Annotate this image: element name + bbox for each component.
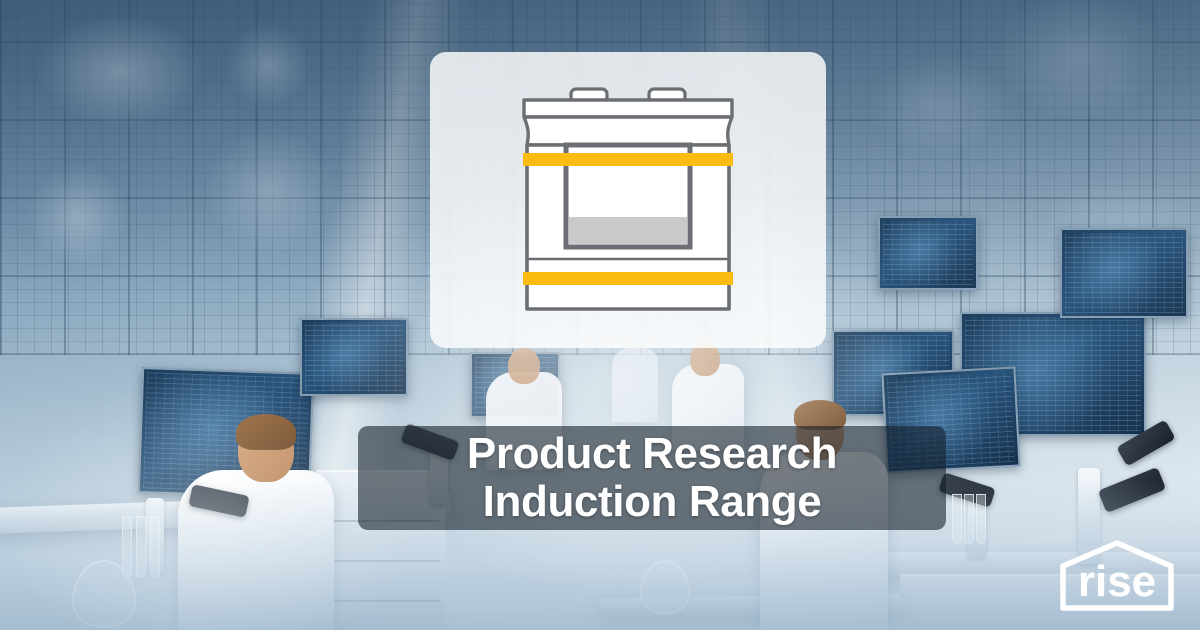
title-band: Product Research Induction Range [358, 426, 946, 530]
background-wall-monitor [300, 318, 408, 396]
page-title-line-2: Induction Range [483, 478, 822, 526]
rise-logo[interactable]: rise [1056, 538, 1178, 612]
induction-range-icon [521, 87, 735, 313]
background-scientist-coat [612, 348, 658, 422]
product-icon-card [430, 52, 826, 348]
rise-logo-house-icon: rise [1056, 538, 1178, 612]
background-wall-monitor [878, 216, 978, 290]
background-scientist-hair [236, 414, 296, 450]
hero-banner: Product Research Induction Range rise [0, 0, 1200, 630]
background-scientist-head [508, 348, 540, 384]
page-title-line-1: Product Research [467, 430, 837, 478]
background-wall-monitor [1060, 228, 1188, 318]
rise-logo-text: rise [1078, 557, 1156, 606]
